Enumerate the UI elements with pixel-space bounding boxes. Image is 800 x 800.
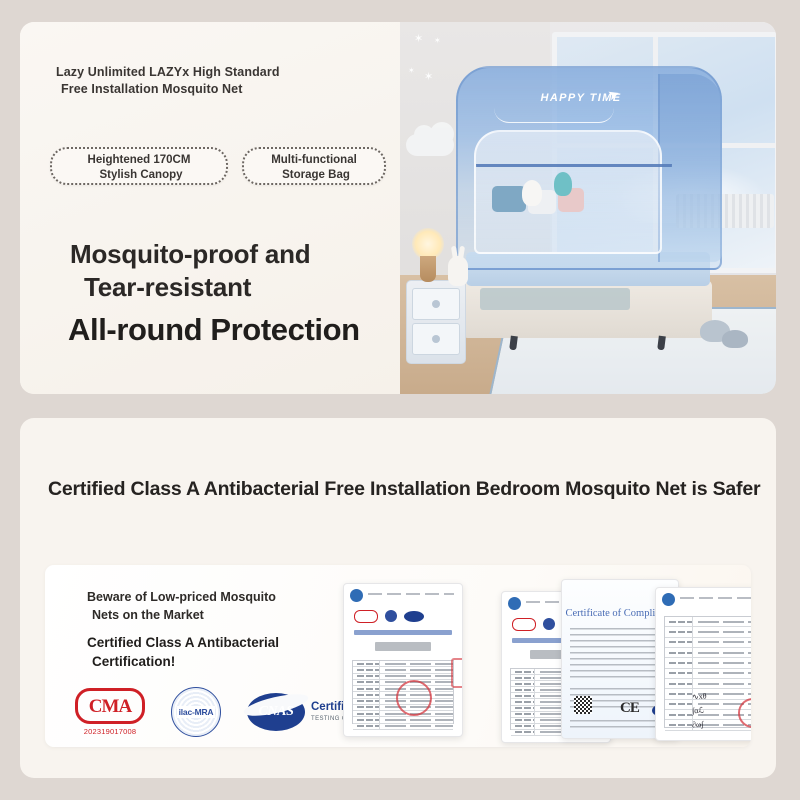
certificate-title-bar <box>354 630 452 635</box>
certification-card: Beware of Low-priced Mosquito Nets on th… <box>45 565 751 747</box>
ilac-mini-icon <box>385 610 397 622</box>
photo-bed-band <box>480 288 630 310</box>
cma-mini-icon <box>512 618 536 631</box>
pill-canopy-line1: Heightened 170CM <box>88 154 191 166</box>
photo-nightstand <box>406 280 466 364</box>
photo-drawer-knob <box>432 335 440 343</box>
canopy-swoosh <box>494 108 614 123</box>
ilac-mini-icon <box>543 618 555 630</box>
photo-bunny-toy <box>448 256 468 286</box>
star-icon: ✶ <box>408 66 415 75</box>
feature-pill-canopy: Heightened 170CM Stylish Canopy <box>50 147 228 185</box>
hero-headline: Mosquito-proof and Tear-resistant <box>70 238 310 305</box>
hero-headline-emphasis: All-round Protection <box>68 312 360 348</box>
canopy-logo-text: HAPPY TIME <box>486 92 676 104</box>
pill-storage-line1: Multi-functional <box>271 154 357 166</box>
certificate-logo-row <box>354 608 452 624</box>
certificate-seal-icon <box>508 597 521 610</box>
star-icon: ✶ <box>434 36 441 45</box>
certificate-seal-icon <box>350 589 363 602</box>
certificate-gallery: Certificate of Compliance CE <box>45 565 751 747</box>
product-photo: ✶ ✶ ✶ ✶ HAPPY TIME ➤ <box>400 22 776 394</box>
certificate-side-stamp <box>451 658 463 688</box>
pill-canopy-line2: Stylish Canopy <box>52 168 226 183</box>
feature-pill-storage-text: Multi-functional Storage Bag <box>244 153 384 183</box>
signature-mark: ∿xθ <box>692 692 707 702</box>
certificate-data-sheet: ∿xθ ∫αℒ ∂ω∫ <box>655 587 751 741</box>
photo-drawer <box>412 323 460 355</box>
certificate-red-stamp <box>396 680 432 716</box>
table-row <box>665 638 751 648</box>
star-icon: ✶ <box>424 70 433 83</box>
certificate-subtitle-bar <box>375 642 432 651</box>
certification-panel: Certified Class A Antibacterial Free Ins… <box>20 418 776 778</box>
photo-lamp-base <box>420 256 436 282</box>
table-row <box>665 648 751 658</box>
certificate-seal-icon <box>662 593 675 606</box>
certificate-test-report-1 <box>343 583 463 737</box>
photo-bed-base <box>462 280 712 338</box>
photo-drawer <box>412 288 460 320</box>
cloud-icon <box>406 134 454 156</box>
cma-mini-icon <box>354 610 378 623</box>
feature-pill-group: Heightened 170CM Stylish Canopy Multi-fu… <box>50 147 386 185</box>
photo-plush-dog <box>722 330 748 348</box>
table-row <box>665 627 751 637</box>
product-marketing-image: Lazy Unlimited LAZYx High Standard Free … <box>0 0 800 800</box>
table-row <box>665 720 751 730</box>
feature-pill-canopy-text: Heightened 170CM Stylish Canopy <box>52 153 226 183</box>
table-row <box>353 724 453 730</box>
ce-mark-icon: CE <box>620 700 639 717</box>
signature-mark: ∂ω∫ <box>692 720 704 730</box>
pill-storage-line2: Storage Bag <box>244 168 384 183</box>
photo-pillow <box>492 186 526 212</box>
table-row <box>665 669 751 679</box>
cnas-label: CNAS <box>259 704 294 720</box>
qr-code-icon <box>574 696 592 714</box>
hero-headline-line2: Tear-resistant <box>70 271 310 304</box>
table-row <box>665 658 751 668</box>
hero-panel: Lazy Unlimited LAZYx High Standard Free … <box>20 22 776 394</box>
hero-headline-line1: Mosquito-proof and <box>70 239 310 269</box>
photo-drawer-knob <box>432 300 440 308</box>
table-row <box>665 617 751 627</box>
signature-mark: ∫αℒ <box>692 706 705 716</box>
certificate-header-line <box>680 597 751 599</box>
photo-plush-toy <box>554 172 572 196</box>
certificate-header-line <box>368 593 454 595</box>
feature-pill-storage: Multi-functional Storage Bag <box>242 147 386 185</box>
photo-plush-toy <box>522 180 542 206</box>
cnas-mini-icon <box>404 611 424 622</box>
star-icon: ✶ <box>414 32 423 45</box>
brand-title-line2: Free Installation Mosquito Net <box>56 81 386 98</box>
brand-title: Lazy Unlimited LAZYx High Standard Free … <box>56 64 386 99</box>
table-row <box>665 679 751 689</box>
photo-mosquito-net: HAPPY TIME ➤ <box>456 66 722 270</box>
brand-title-line1: Lazy Unlimited LAZYx High Standard <box>56 65 280 79</box>
table-row <box>665 689 751 699</box>
certification-headline: Certified Class A Antibacterial Free Ins… <box>48 478 760 501</box>
